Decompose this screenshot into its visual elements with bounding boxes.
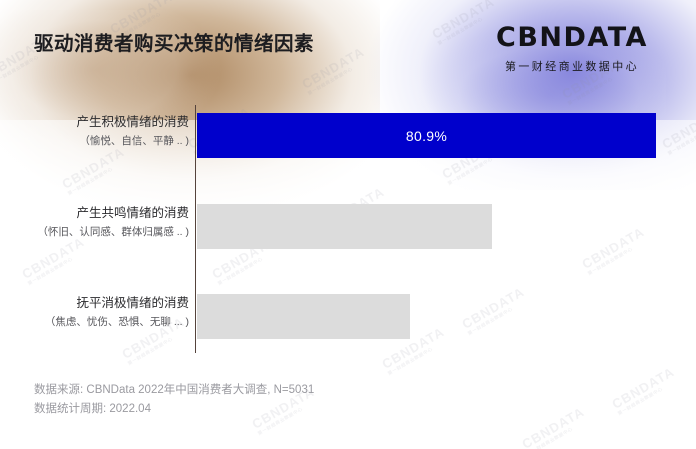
category-subtitle-2: （怀旧、认同感、群体归属感 .. ) (0, 225, 189, 240)
category-label-3: 抚平消极情绪的消费（焦虑、忧伤、恐惧、无聊 ... ) (0, 295, 189, 330)
slide-canvas: CBNDATA第一财经商业数据中心CBNDATA第一财经商业数据中心CBNDAT… (0, 0, 696, 449)
category-title-2: 产生共鸣情绪的消费 (0, 205, 189, 222)
category-title-1: 产生积极情绪的消费 (0, 114, 189, 131)
category-subtitle-3: （焦虑、忧伤、恐惧、无聊 ... ) (0, 315, 189, 330)
bar-1[interactable]: 80.9% (197, 113, 656, 158)
category-label-1: 产生积极情绪的消费（愉悦、自信、平静 .. ) (0, 114, 189, 149)
bar-2[interactable] (197, 204, 492, 249)
footnote-period: 数据统计周期: 2022.04 (34, 400, 314, 419)
category-title-3: 抚平消极情绪的消费 (0, 295, 189, 312)
bar-3[interactable] (197, 294, 410, 339)
footnote-source: 数据来源: CBNData 2022年中国消费者大调查, N=5031 (34, 381, 314, 400)
category-label-2: 产生共鸣情绪的消费（怀旧、认同感、群体归属感 .. ) (0, 205, 189, 240)
chart-footnote: 数据来源: CBNData 2022年中国消费者大调查, N=5031 数据统计… (34, 381, 314, 419)
bar-value-label-1: 80.9% (197, 113, 656, 158)
category-subtitle-1: （愉悦、自信、平静 .. ) (0, 134, 189, 149)
